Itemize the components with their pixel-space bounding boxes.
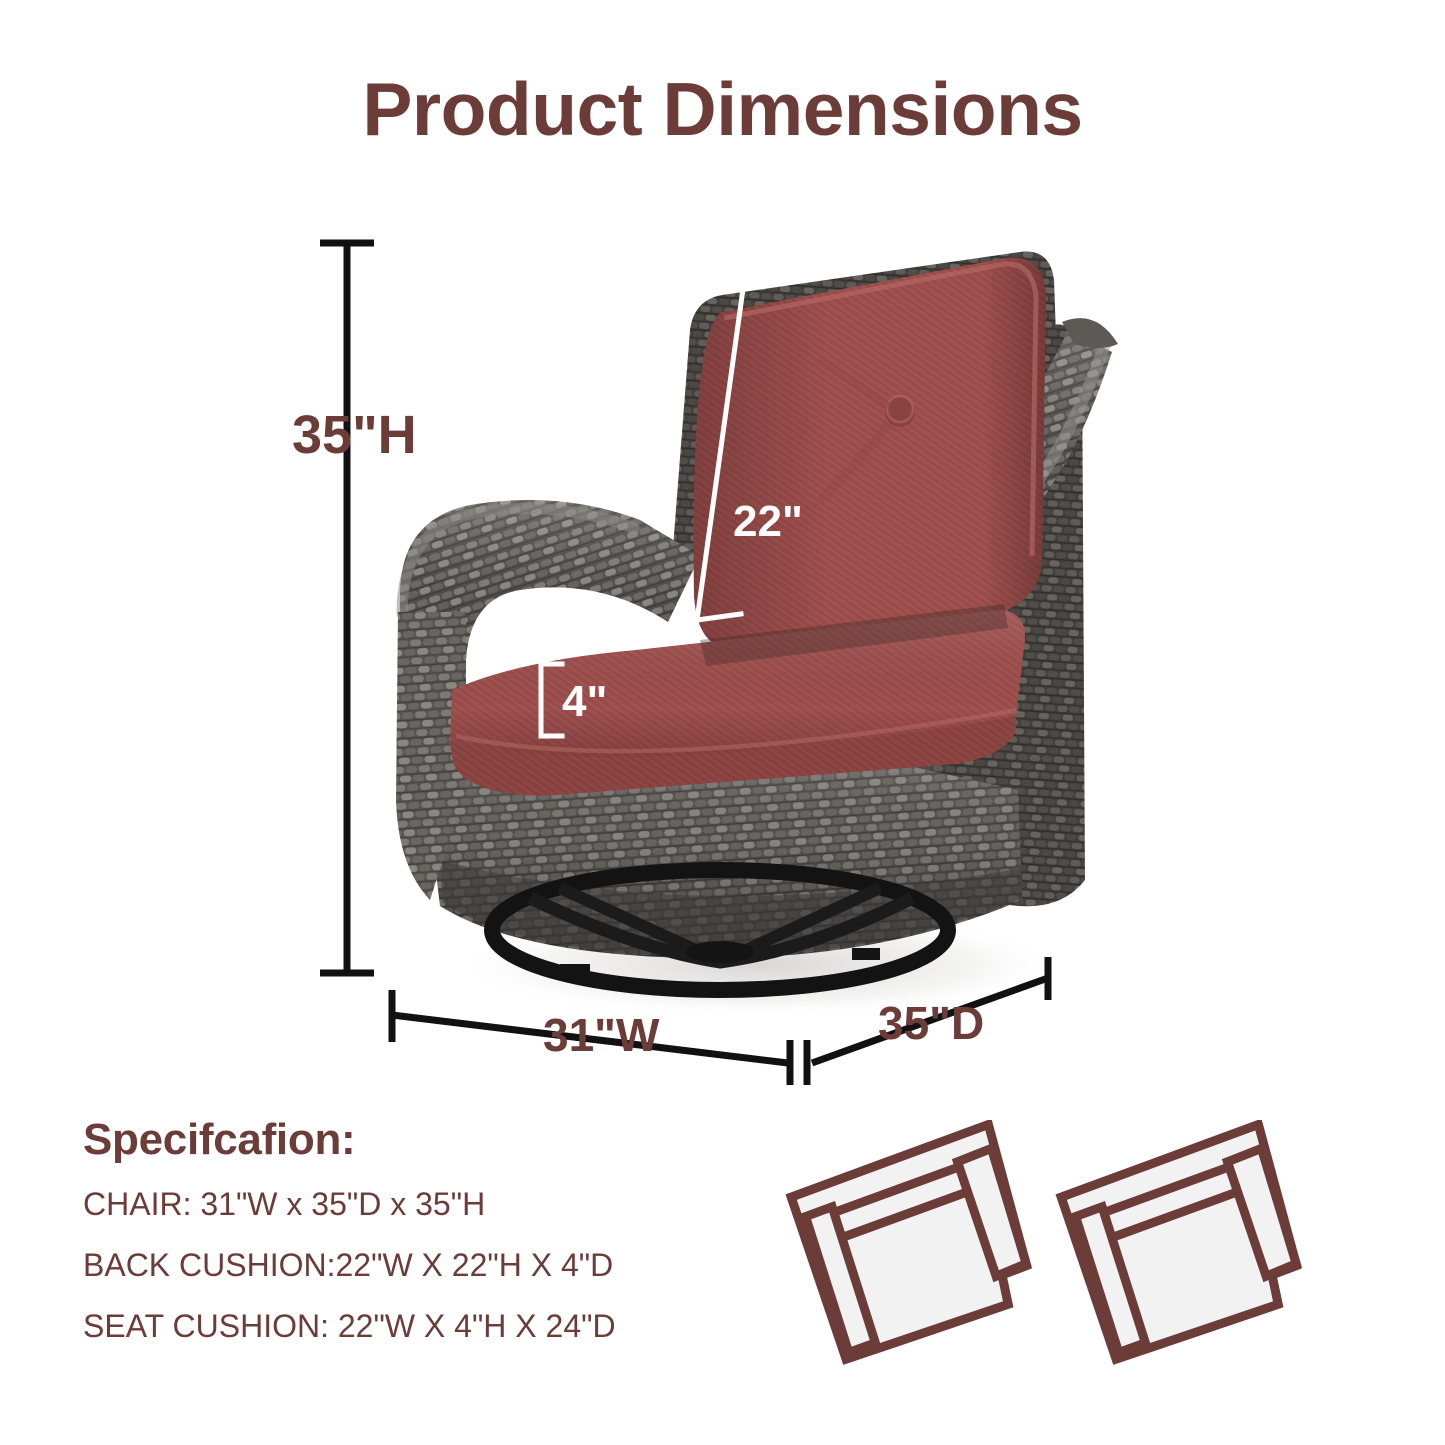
- chair-top-view-outline-icon-right: [1055, 1123, 1308, 1364]
- back-cushion-height-label: 22": [733, 500, 803, 544]
- chair-lower-skirt: [440, 860, 1022, 956]
- seat-cushion-front-edge: [452, 716, 1016, 796]
- swivel-base-spokes: [530, 898, 912, 962]
- dimension-lines: [320, 243, 1048, 1085]
- chair-outline-icons-svg: [780, 1120, 1340, 1400]
- depth-dimension-label: 35"D: [878, 1000, 984, 1046]
- chair-seat-box-shade: [420, 742, 1022, 958]
- cushion-crease-upper: [820, 360, 888, 406]
- cushion-tuft-button-highlight: [887, 396, 913, 422]
- chair-right-arm-inner: [800, 560, 1000, 740]
- swivel-base-foot-right: [852, 948, 880, 960]
- back-cushion-shade: [694, 258, 1046, 649]
- swivel-base-foot-left: [560, 964, 590, 976]
- height-dimension-label: 35"H: [292, 408, 417, 462]
- specification-block: Specifcafion: CHAIR: 31"W x 35"D x 35"H …: [83, 1118, 783, 1342]
- chair-left-arm-rim: [402, 508, 634, 614]
- specification-heading: Specifcafion:: [83, 1118, 783, 1162]
- back-cushion-callout-tick: [697, 614, 741, 620]
- seat-back-gap-shadow: [700, 604, 1008, 666]
- seat-cushion-callout-bracket: [541, 664, 562, 736]
- cushion-crease-lower: [820, 424, 888, 500]
- chair-graphic: [396, 252, 1118, 990]
- seat-cushion-piping: [456, 710, 1018, 751]
- chair-left-arm-shade: [398, 500, 700, 780]
- seat-cushion-shade: [450, 610, 1025, 790]
- chair-left-arm: [398, 500, 700, 780]
- width-dimension-label: 31"W: [543, 1012, 659, 1058]
- chair-top-view-outline-icon-left: [785, 1123, 1038, 1364]
- product-dimensions-infographic: Product Dimensions: [0, 0, 1445, 1445]
- spec-line-back-cushion: BACK CUSHION:22"W X 22"H X 4"D: [83, 1249, 783, 1281]
- swivel-base-spoke-right: [742, 888, 880, 952]
- chair-right-side-panel: [880, 324, 1085, 906]
- seat-cushion-thickness-label: 4": [562, 680, 607, 724]
- spec-line-seat-cushion: SEAT CUSHION: 22"W X 4"H X 24"D: [83, 1310, 783, 1342]
- seat-cushion: [450, 610, 1025, 790]
- chair-right-arm-rim: [832, 342, 1106, 686]
- back-cushion: [694, 258, 1046, 649]
- cushion-tuft-button: [885, 397, 915, 427]
- chair-right-arm-tip: [1062, 318, 1118, 348]
- chair-seat-box: [420, 742, 1022, 958]
- chair-outline-icon-group: [780, 1120, 1340, 1400]
- cushion-callout-lines: [541, 253, 748, 736]
- swivel-base-spoke-left: [560, 888, 700, 952]
- swivel-base-hub: [686, 941, 754, 963]
- back-cushion-callout-line: [697, 253, 748, 620]
- swivel-base-outer-ring: [492, 870, 948, 990]
- chair-left-side-panel: [396, 612, 466, 900]
- chair-back-frame: [672, 252, 1064, 560]
- page-title: Product Dimensions: [0, 72, 1445, 147]
- spec-line-chair: CHAIR: 31"W x 35"D x 35"H: [83, 1188, 783, 1220]
